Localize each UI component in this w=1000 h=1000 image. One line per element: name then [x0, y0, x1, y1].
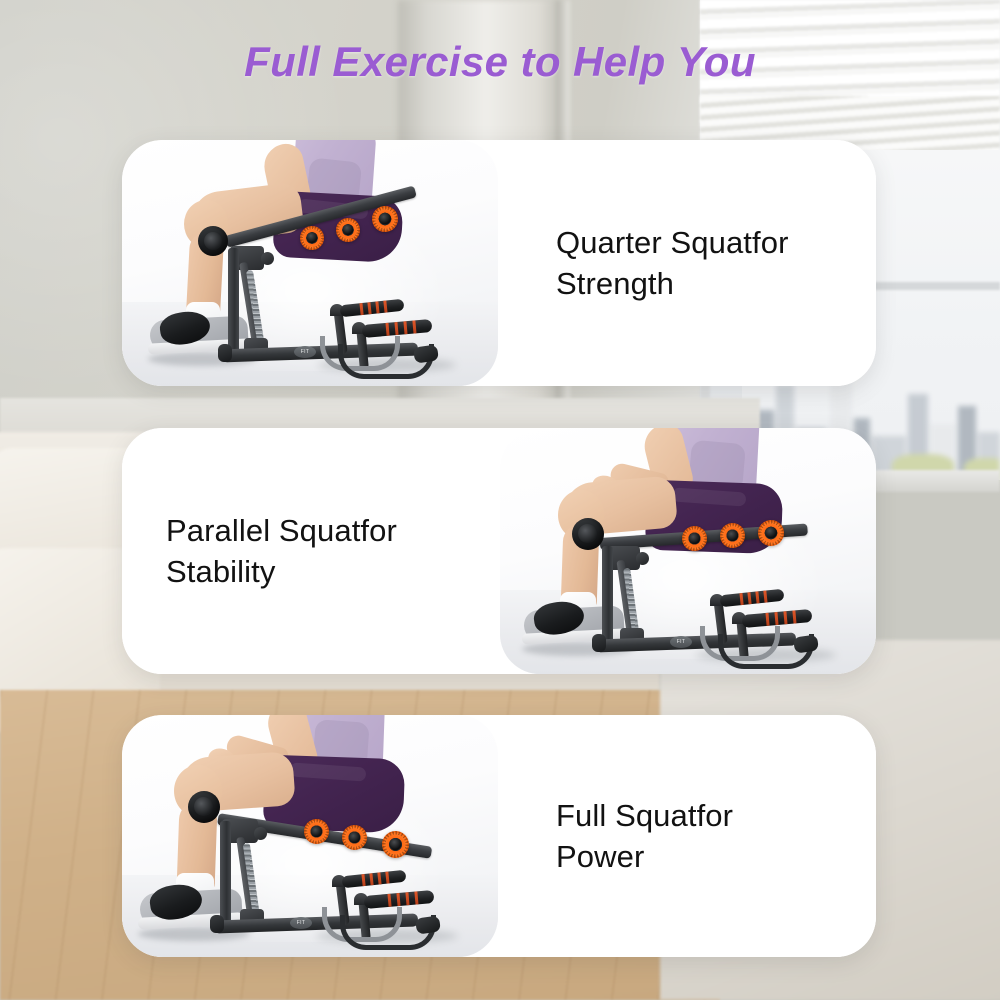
feature-copy-parallel-squat: Parallel Squatfor Stability — [122, 428, 500, 674]
massage-roller — [342, 825, 367, 850]
massage-roller — [382, 831, 409, 858]
massage-roller — [300, 226, 324, 250]
adjustment-knob — [254, 827, 267, 840]
pushup-handle-grip — [340, 299, 405, 318]
base-foot-cap — [592, 634, 606, 652]
product-photo-quarter-squat: FIT — [122, 140, 498, 386]
brand-logo-badge: FIT — [290, 917, 312, 929]
knee-pad-face — [578, 524, 597, 543]
feature-card-full-squat: FIT Full Squatfor Po — [122, 715, 876, 957]
massage-roller — [336, 218, 360, 242]
knee-pad-face — [204, 232, 222, 250]
squat-bench-scene: FIT — [122, 715, 498, 957]
squat-bench-scene: FIT — [500, 428, 876, 674]
feature-label: Parallel Squatfor Stability — [166, 510, 397, 592]
feature-label-line2: Stability — [166, 551, 397, 592]
massage-roller — [682, 526, 707, 551]
squat-bench-scene: FIT — [122, 140, 498, 386]
product-photo-full-squat: FIT — [122, 715, 498, 957]
adjustment-knob — [636, 552, 649, 565]
product-feature-graphic: Full Exercise to Help You — [0, 0, 1000, 1000]
page-title: Full Exercise to Help You — [0, 38, 1000, 86]
massage-roller — [372, 206, 398, 232]
massage-roller — [720, 523, 745, 548]
base-foot-cap — [210, 915, 224, 933]
feature-label-line1: Parallel Squatfor — [166, 510, 397, 551]
bench-front-post — [220, 821, 231, 927]
pushup-handle-grip — [342, 870, 407, 889]
bench-front-post — [228, 248, 239, 356]
feature-label: Quarter Squatfor Strength — [556, 222, 789, 304]
pushup-handle-grip — [720, 589, 785, 608]
base-foot-cap — [218, 344, 232, 362]
massage-roller — [304, 819, 329, 844]
feature-label-line1: Quarter Squatfor — [556, 222, 789, 263]
bench-front-post — [602, 546, 613, 646]
feature-copy-quarter-squat: Quarter Squatfor Strength — [498, 140, 876, 386]
feature-label-line1: Full Squatfor — [556, 795, 733, 836]
brand-logo-badge: FIT — [294, 346, 316, 358]
feature-copy-full-squat: Full Squatfor Power — [498, 715, 876, 957]
feature-card-quarter-squat: FIT Quarter Squatfo — [122, 140, 876, 386]
feature-card-parallel-squat: FIT Parallel Squatfor — [122, 428, 876, 674]
feature-label-line2: Strength — [556, 263, 789, 304]
massage-roller — [758, 520, 784, 546]
product-photo-parallel-squat: FIT — [500, 428, 876, 674]
adjustment-knob — [261, 252, 274, 265]
feature-label-line2: Power — [556, 836, 733, 877]
knee-pad-face — [194, 797, 213, 816]
brand-logo-badge: FIT — [670, 636, 692, 648]
feature-label: Full Squatfor Power — [556, 795, 733, 877]
